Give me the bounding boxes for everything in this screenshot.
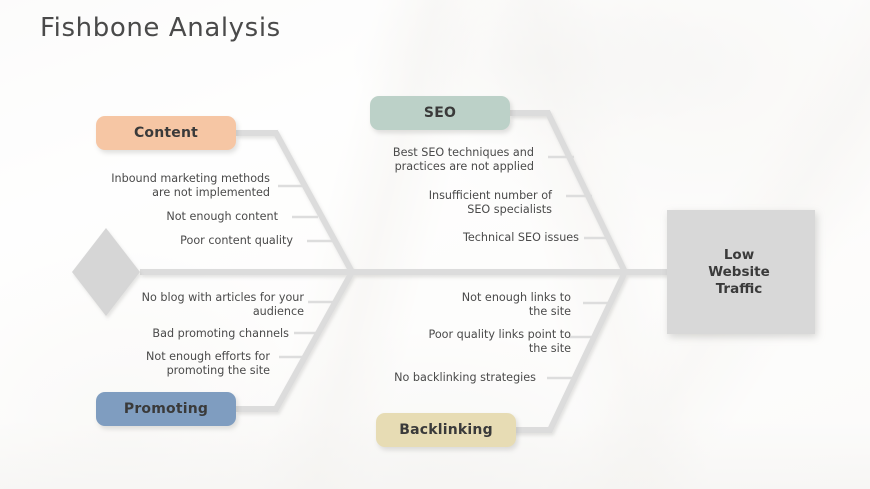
cause-promoting-3: Not enough efforts for promoting the sit… — [100, 350, 270, 378]
effect-head-label: Low Website Traffic — [708, 247, 770, 298]
category-label-content-text: Content — [134, 125, 198, 141]
bone-content — [236, 133, 352, 272]
cause-seo-1: Best SEO techniques and practices are no… — [355, 146, 534, 174]
category-label-promoting-text: Promoting — [124, 401, 208, 417]
cause-backlinking-3: No backlinking strategies — [380, 371, 536, 385]
cause-seo-2: Insufficient number of SEO specialists — [355, 189, 552, 217]
cause-content-3: Poor content quality — [80, 234, 293, 248]
category-label-backlinking[interactable]: Backlinking — [376, 413, 516, 447]
cause-backlinking-1: Not enough links to the site — [400, 291, 571, 319]
category-label-seo[interactable]: SEO — [370, 96, 510, 130]
category-label-promoting[interactable]: Promoting — [96, 392, 236, 426]
category-label-content[interactable]: Content — [96, 116, 236, 150]
category-label-seo-text: SEO — [424, 105, 456, 121]
cause-backlinking-2: Poor quality links point to the site — [390, 328, 571, 356]
effect-head-shape: Low Website Traffic — [667, 210, 815, 334]
category-label-backlinking-text: Backlinking — [399, 422, 493, 438]
effect-head[interactable]: Low Website Traffic — [667, 210, 815, 334]
slide-canvas: Fishbone Analysis — [0, 0, 870, 489]
cause-seo-3: Technical SEO issues — [355, 231, 579, 245]
cause-content-1: Inbound marketing methods are not implem… — [80, 172, 270, 200]
cause-promoting-1: No blog with articles for your audience — [100, 291, 304, 319]
cause-content-2: Not enough content — [80, 210, 278, 224]
cause-promoting-2: Bad promoting channels — [100, 327, 289, 341]
